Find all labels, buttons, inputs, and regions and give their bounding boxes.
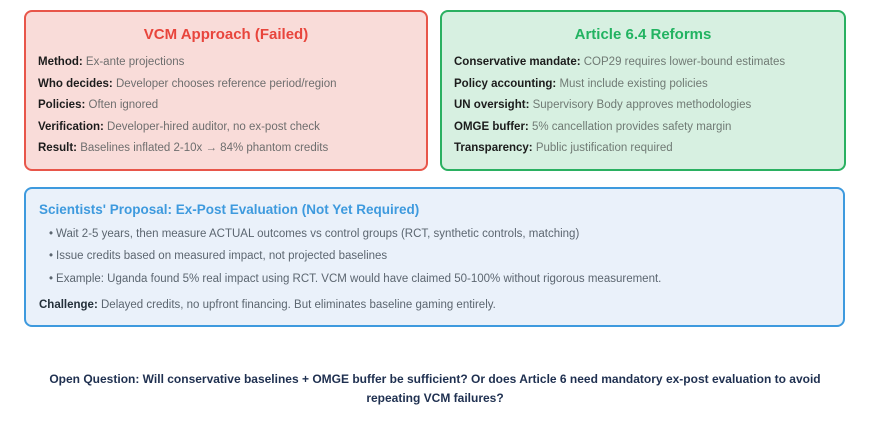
infographic-page: VCM Approach (Failed) Method: Ex-ante pr… xyxy=(0,0,876,421)
proposal-challenge-row: Challenge: Delayed credits, no upfront f… xyxy=(39,300,830,312)
bullet-point-icon: • xyxy=(49,273,53,285)
attribute-key: Transparency: xyxy=(454,142,533,154)
challenge-key: Challenge: xyxy=(39,299,98,311)
attribute-key: Verification: xyxy=(38,121,104,133)
list-item: •Example: Uganda found 5% real impact us… xyxy=(49,274,830,286)
attribute-value: Baselines inflated 2-10x → 84% phantom c… xyxy=(80,142,328,154)
attribute-key: Conservative mandate: xyxy=(454,56,581,68)
comparison-cards-row: VCM Approach (Failed) Method: Ex-ante pr… xyxy=(24,10,846,171)
attribute-key: Policies: xyxy=(38,99,85,111)
list-item: •Wait 2-5 years, then measure ACTUAL out… xyxy=(49,229,830,241)
proposal-bullet-list: •Wait 2-5 years, then measure ACTUAL out… xyxy=(39,229,830,286)
article-64-attribute-list: Conservative mandate: COP29 requires low… xyxy=(454,57,832,155)
challenge-value: Delayed credits, no upfront financing. B… xyxy=(101,299,496,311)
attribute-value: Supervisory Body approves methodologies xyxy=(533,99,752,111)
list-item: Conservative mandate: COP29 requires low… xyxy=(454,57,832,69)
bullet-text: Example: Uganda found 5% real impact usi… xyxy=(56,273,661,285)
bullet-point-icon: • xyxy=(49,228,53,240)
list-item: Verification: Developer-hired auditor, n… xyxy=(38,122,414,134)
list-item: UN oversight: Supervisory Body approves … xyxy=(454,100,832,112)
attribute-key: Who decides: xyxy=(38,78,113,90)
bullet-text: Issue credits based on measured impact, … xyxy=(56,250,387,262)
attribute-key: Method: xyxy=(38,56,83,68)
bullet-text: Wait 2-5 years, then measure ACTUAL outc… xyxy=(56,228,579,240)
open-question-text: Open Question: Will conservative baselin… xyxy=(30,370,840,410)
scientists-proposal-card: Scientists' Proposal: Ex-Post Evaluation… xyxy=(24,187,845,327)
article-64-reforms-card: Article 6.4 Reforms Conservative mandate… xyxy=(440,10,846,171)
attribute-key: Policy accounting: xyxy=(454,78,556,90)
attribute-value: Must include existing policies xyxy=(559,78,707,90)
attribute-value: Developer chooses reference period/regio… xyxy=(116,78,337,90)
vcm-approach-attribute-list: Method: Ex-ante projections Who decides:… xyxy=(38,57,414,155)
vcm-approach-card-title: VCM Approach (Failed) xyxy=(38,26,414,44)
list-item: Who decides: Developer chooses reference… xyxy=(38,79,414,91)
list-item: •Issue credits based on measured impact,… xyxy=(49,251,830,263)
list-item: Policies: Often ignored xyxy=(38,100,414,112)
list-item: Policy accounting: Must include existing… xyxy=(454,79,832,91)
bullet-point-icon: • xyxy=(49,250,53,262)
attribute-key: OMGE buffer: xyxy=(454,121,529,133)
attribute-key: UN oversight: xyxy=(454,99,529,111)
vcm-approach-card: VCM Approach (Failed) Method: Ex-ante pr… xyxy=(24,10,428,171)
article-64-reforms-card-title: Article 6.4 Reforms xyxy=(454,26,832,44)
attribute-key: Result: xyxy=(38,142,77,154)
list-item: OMGE buffer: 5% cancellation provides sa… xyxy=(454,122,832,134)
attribute-value: Often ignored xyxy=(89,99,159,111)
attribute-value: Ex-ante projections xyxy=(86,56,184,68)
list-item: Method: Ex-ante projections xyxy=(38,57,414,69)
list-item: Transparency: Public justification requi… xyxy=(454,143,832,155)
list-item: Result: Baselines inflated 2-10x → 84% p… xyxy=(38,143,414,155)
attribute-value: Public justification required xyxy=(536,142,673,154)
attribute-value: 5% cancellation provides safety margin xyxy=(532,121,731,133)
attribute-value: COP29 requires lower-bound estimates xyxy=(584,56,785,68)
attribute-value: Developer-hired auditor, no ex-post chec… xyxy=(107,121,320,133)
scientists-proposal-card-title: Scientists' Proposal: Ex-Post Evaluation… xyxy=(39,202,830,218)
